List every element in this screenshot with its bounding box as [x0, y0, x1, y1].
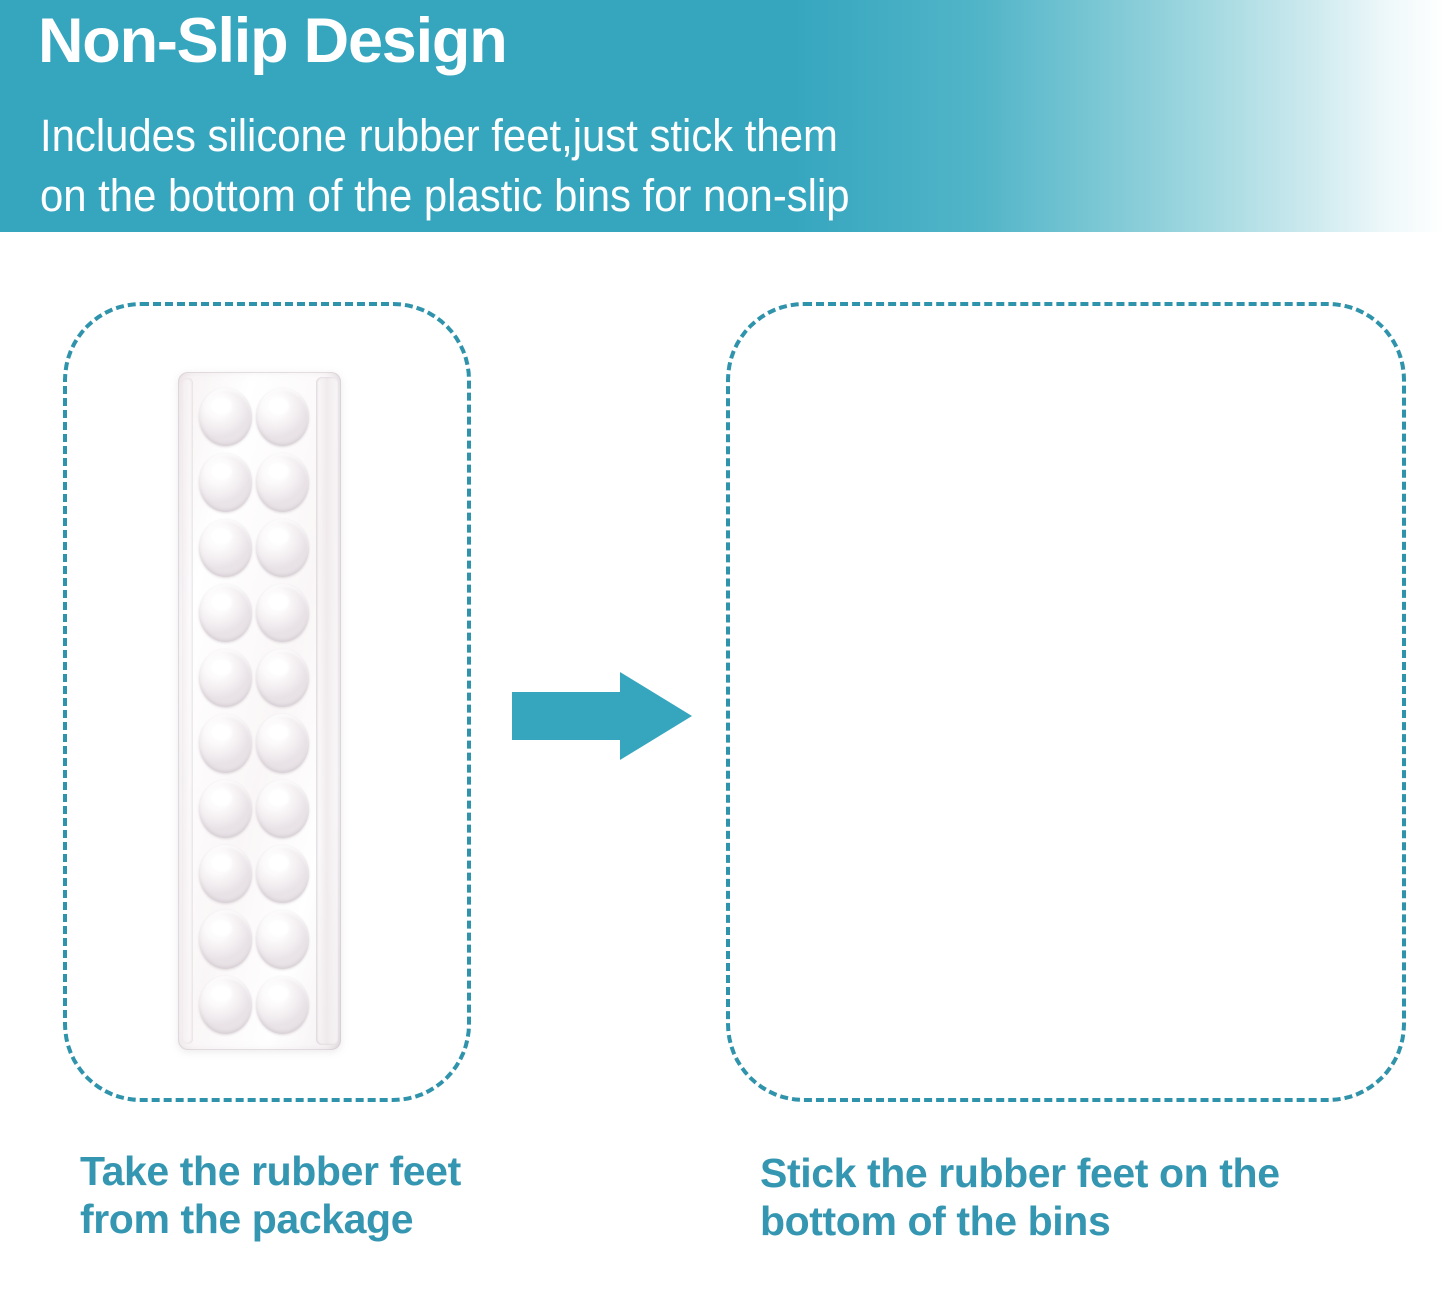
rubber-foot-dome: [199, 910, 252, 968]
rubber-foot-dome: [199, 519, 252, 577]
rubber-foot-dome: [256, 453, 309, 511]
rubber-foot-dome: [199, 649, 252, 707]
rubber-foot-dome: [256, 649, 309, 707]
rubber-foot-dome: [199, 845, 252, 903]
rubber-foot-dome: [256, 780, 309, 838]
header-subtitle-line-1: Includes silicone rubber feet,just stick…: [40, 106, 850, 166]
step-1-caption: Take the rubber feet from the package: [80, 1148, 510, 1244]
rubber-foot-dome: [199, 453, 252, 511]
rubber-foot-dome: [199, 976, 252, 1034]
rubber-foot-dome: [256, 976, 309, 1034]
rubber-foot-dome: [256, 845, 309, 903]
rubber-foot-dome: [256, 388, 309, 446]
step-2-panel: [726, 302, 1406, 1102]
rubber-feet-grid: [198, 386, 310, 1036]
rubber-foot-dome: [199, 388, 252, 446]
rubber-foot-dome: [256, 584, 309, 642]
page-title: Non-Slip Design: [38, 8, 507, 74]
rubber-foot-dome: [256, 714, 309, 772]
process-arrow-icon: [512, 668, 692, 764]
rubber-feet-blister-strip: [178, 372, 341, 1050]
header-banner: Non-Slip Design Includes silicone rubber…: [0, 0, 1445, 232]
rubber-foot-dome: [256, 910, 309, 968]
header-subtitle-line-2: on the bottom of the plastic bins for no…: [40, 166, 850, 226]
rubber-foot-dome: [256, 519, 309, 577]
step-2-caption: Stick the rubber feet on the bottom of t…: [760, 1150, 1400, 1246]
header-subtitle: Includes silicone rubber feet,just stick…: [40, 106, 850, 226]
rubber-foot-dome: [199, 584, 252, 642]
rubber-foot-dome: [199, 714, 252, 772]
rubber-foot-dome: [199, 780, 252, 838]
